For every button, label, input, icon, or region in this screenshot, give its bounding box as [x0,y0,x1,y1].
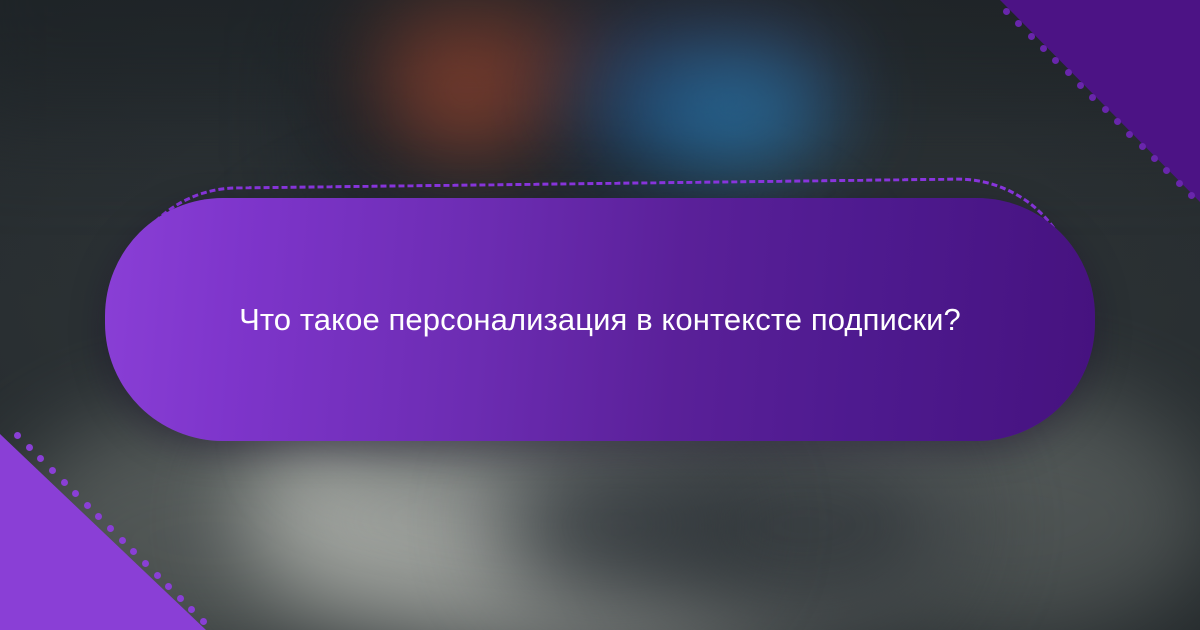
question-title: Что такое персонализация в контексте под… [174,294,1025,345]
question-card: Что такое персонализация в контексте под… [105,198,1095,441]
question-card-body: Что такое персонализация в контексте под… [174,294,1025,345]
promo-card-canvas: Что такое персонализация в контексте под… [0,0,1200,630]
